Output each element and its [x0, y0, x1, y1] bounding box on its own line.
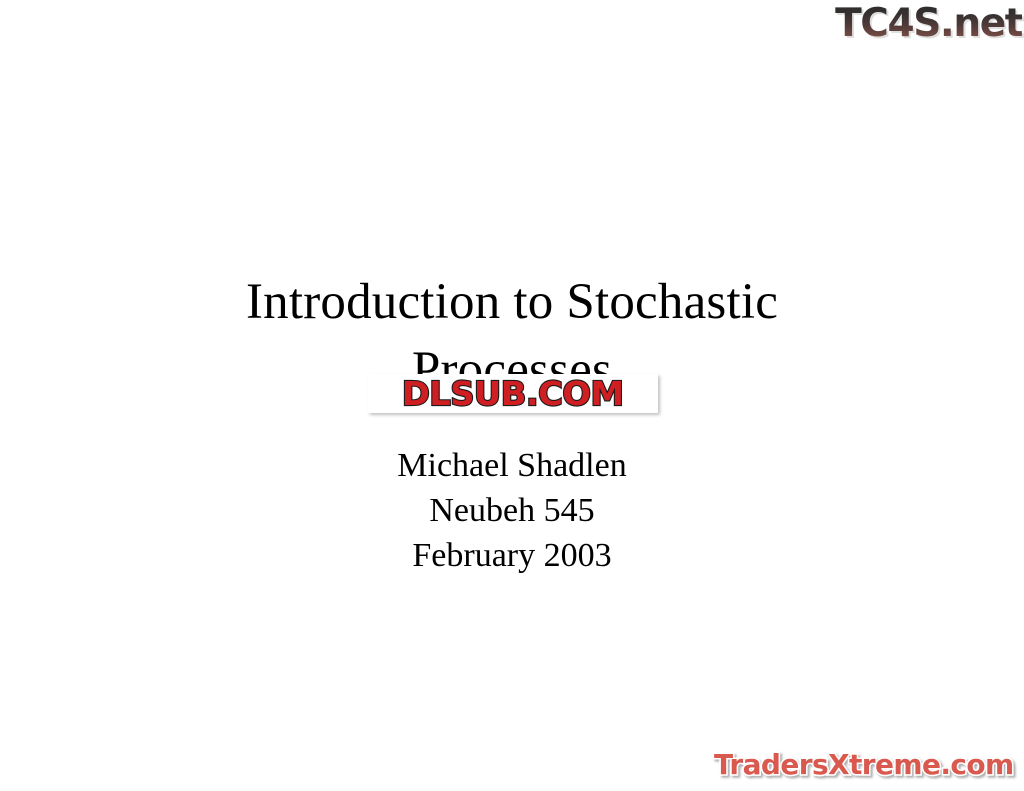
watermark-dlsub-box: DLSUB.COM [368, 374, 658, 413]
slide-title-line-1: Introduction to Stochastic [0, 268, 1024, 336]
watermark-tradersxtreme: TradersXtreme.com [714, 748, 1014, 781]
slide-subtitle: Michael Shadlen Neubeh 545 February 2003 [0, 449, 1024, 573]
subtitle-author: Michael Shadlen [0, 449, 1024, 483]
subtitle-course: Neubeh 545 [0, 494, 1024, 528]
subtitle-date: February 2003 [0, 539, 1024, 573]
watermark-dlsub-text: DLSUB.COM [402, 374, 624, 413]
watermark-tc4s: TC4S.net [835, 1, 1022, 47]
presentation-slide: Introduction to Stochastic Processes Mic… [0, 0, 1024, 791]
